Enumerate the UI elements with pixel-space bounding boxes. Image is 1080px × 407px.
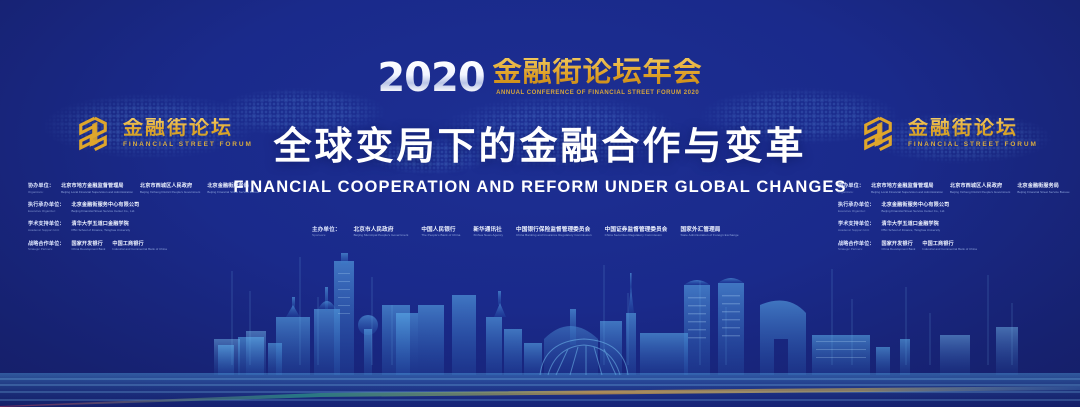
sponsor-item: 北京金融街服务局 Beijing Financial Street Servic… xyxy=(1017,184,1069,194)
sponsor-row: 战略合作单位： Strategic Partners: 国家开发银行 China… xyxy=(838,242,1080,252)
sponsor-label: 战略合作单位： Strategic Partners: xyxy=(838,242,875,252)
sponsor-label: 学术支持单位： Academic Support Unit: xyxy=(28,222,65,232)
sponsor-item: 北京市地方金融监督管理局 Beijing Local Financial Sup… xyxy=(61,184,133,194)
forum-logo-left: 金融街论坛 FINANCIAL STREET FORUM xyxy=(72,112,253,154)
sponsor-label: 协办单位： Organizers: xyxy=(838,184,864,194)
sponsor-label: 主办单位： Sponsors: xyxy=(312,227,341,238)
fs-monogram-icon xyxy=(857,112,899,154)
sponsor-item: 北京市地方金融监督管理局 Beijing Local Financial Sup… xyxy=(871,184,943,194)
sponsor-item: 中国银行保险监督管理委员会 China Banking and Insuranc… xyxy=(516,227,592,238)
sponsor-item: 北京金融街服务中心有限公司 Beijing Financial Street S… xyxy=(72,203,140,213)
sponsor-item: 北京金融街服务中心有限公司 Beijing Financial Street S… xyxy=(882,203,950,213)
sponsor-label: 协办单位： Organizers: xyxy=(28,184,54,194)
sponsor-row: 执行承办单位： Executive Organizer: 北京金融街服务中心有限… xyxy=(838,203,1080,213)
sponsor-label: 战略合作单位： Strategic Partners: xyxy=(28,242,65,252)
sponsor-row: 执行承办单位： Executive Organizer: 北京金融街服务中心有限… xyxy=(28,203,288,213)
sponsor-label: 学术支持单位： Academic Support Unit: xyxy=(838,222,875,232)
sponsor-item: 清华大学五道口金融学院 PBC School of Finance, Tsing… xyxy=(72,222,131,232)
sponsor-label: 执行承办单位： Executive Organizer: xyxy=(838,203,875,213)
sponsor-item: 北京金融街服务局 Beijing Financial Street Servic… xyxy=(207,184,259,194)
sponsor-item: 中国工商银行 Industrial and Commercial Bank of… xyxy=(112,242,167,252)
forum-logo-name-en: FINANCIAL STREET FORUM xyxy=(123,141,253,148)
fs-monogram-icon xyxy=(72,112,114,154)
forum-logo-name-cn: 金融街论坛 xyxy=(123,118,253,138)
sponsor-label: 执行承办单位： Executive Organizer: xyxy=(28,203,65,213)
forum-logo-name-cn: 金融街论坛 xyxy=(908,118,1038,138)
sponsor-item: 中国证券监督管理委员会 China Securities Regulatory … xyxy=(605,227,668,238)
sponsor-item: 北京市人民政府 Beijing Municipal People's Gover… xyxy=(354,227,409,238)
sponsor-list-left: 协办单位： Organizers: 北京市地方金融监督管理局 Beijing L… xyxy=(28,184,288,252)
event-year: 2020 xyxy=(377,60,484,97)
sponsor-row: 学术支持单位： Academic Support Unit: 清华大学五道口金融… xyxy=(28,222,288,232)
sponsor-item: 清华大学五道口金融学院 PBC School of Finance, Tsing… xyxy=(882,222,941,232)
sponsor-row: 协办单位： Organizers: 北京市地方金融监督管理局 Beijing L… xyxy=(838,184,1080,194)
sponsor-list-center: 主办单位： Sponsors: 北京市人民政府 Beijing Municipa… xyxy=(312,227,772,238)
sponsor-item: 新华通讯社 Xinhua News Agency xyxy=(473,227,503,238)
sponsor-list-right: 协办单位： Organizers: 北京市地方金融监督管理局 Beijing L… xyxy=(838,184,1080,252)
forum-logo-right: 金融街论坛 FINANCIAL STREET FORUM xyxy=(857,112,1038,154)
city-skyline-graphic xyxy=(0,247,1080,407)
event-title-en: ANNUAL CONFERENCE OF FINANCIAL STREET FO… xyxy=(496,90,699,96)
sponsor-item: 国家开发银行 China Development Bank xyxy=(72,242,106,252)
sponsor-item: 国家外汇管理局 State Administration of Foreign … xyxy=(681,227,739,238)
sponsor-item: 国家开发银行 China Development Bank xyxy=(882,242,916,252)
sponsor-item: 北京市西城区人民政府 Beijing Xicheng District Peop… xyxy=(950,184,1010,194)
sponsor-row: 主办单位： Sponsors: 北京市人民政府 Beijing Municipa… xyxy=(312,227,772,238)
conference-backdrop: 2020 金融街论坛年会 ANNUAL CONFERENCE OF FINANC… xyxy=(0,0,1080,407)
sponsor-item: 中国工商银行 Industrial and Commercial Bank of… xyxy=(922,242,977,252)
sponsor-item: 中国人民银行 The People's Bank of China xyxy=(421,227,460,238)
event-title-cn: 金融街论坛年会 xyxy=(493,58,703,87)
sponsor-row: 协办单位： Organizers: 北京市地方金融监督管理局 Beijing L… xyxy=(28,184,288,194)
sponsor-item: 北京市西城区人民政府 Beijing Xicheng District Peop… xyxy=(140,184,200,194)
sponsor-row: 学术支持单位： Academic Support Unit: 清华大学五道口金融… xyxy=(838,222,1080,232)
event-header: 2020 金融街论坛年会 ANNUAL CONFERENCE OF FINANC… xyxy=(0,58,1080,97)
sponsor-row: 战略合作单位： Strategic Partners: 国家开发银行 China… xyxy=(28,242,288,252)
forum-logo-name-en: FINANCIAL STREET FORUM xyxy=(908,141,1038,148)
